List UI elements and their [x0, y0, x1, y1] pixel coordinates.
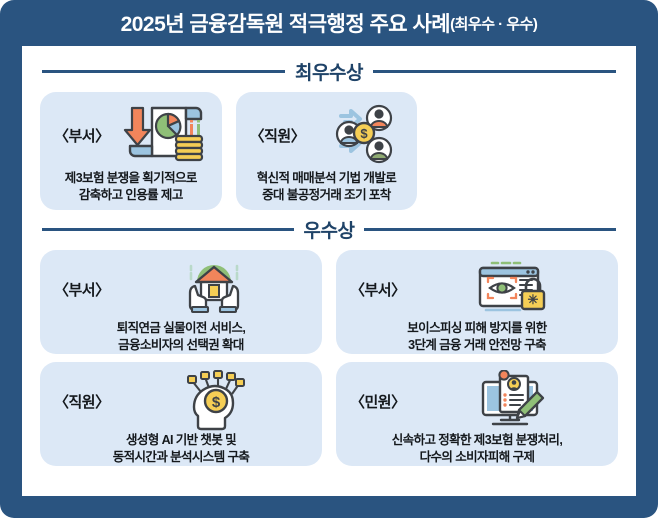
divider-line-right — [373, 70, 616, 73]
card-header: 〈부서〉 — [346, 258, 608, 320]
excellence-column-right: 〈부서〉 — [336, 250, 618, 466]
card-description: 생성형 AI 기반 챗봇 및 동적시간과 분석시스템 구축 — [50, 432, 312, 466]
excellence-card-grid: 〈부서〉 — [34, 250, 624, 466]
page-title-suffix: (최우수 · 우수) — [450, 13, 537, 34]
card-description-line1: 혁신적 매매분석 기법 개발로 — [257, 171, 396, 185]
hands-holding-house-icon — [116, 258, 312, 320]
card-description-line1: 보이스피싱 피해 방지를 위한 — [407, 321, 546, 335]
poster-frame: 2025년 금융감독원 적극행정 주요 사례(최우수 · 우수) 최우수상 〈부… — [0, 0, 658, 518]
card-header: 〈직원〉 — [246, 100, 408, 170]
award-card-grandprize-department[interactable]: 〈부서〉 — [40, 92, 222, 210]
card-description-line2: 감축하고 인용률 제고 — [50, 187, 212, 204]
card-description-line2: 다수의 소비자피해 구제 — [346, 449, 608, 466]
divider-line-right — [364, 228, 616, 231]
divider-line-left — [42, 228, 294, 231]
card-header: 〈직원〉 — [50, 370, 312, 432]
poster-body: 최우수상 〈부서〉 — [22, 46, 636, 496]
award-card-excellence-pension[interactable]: 〈부서〉 — [40, 250, 322, 354]
page-title: 2025년 금융감독원 적극행정 주요 사례 — [121, 8, 451, 38]
people-money-transfer-icon: $ — [311, 100, 407, 170]
award-card-excellence-voice-phishing[interactable]: 〈부서〉 — [336, 250, 618, 354]
poster-title-bar: 2025년 금융감독원 적극행정 주요 사례(최우수 · 우수) — [0, 0, 658, 46]
card-description-line2: 금융소비자의 선택권 확대 — [50, 337, 312, 354]
grand-prize-card-grid: 〈부서〉 — [34, 92, 624, 210]
award-card-grandprize-employee[interactable]: 〈직원〉 — [236, 92, 418, 210]
svg-text:$: $ — [361, 126, 369, 141]
section-header-grand-prize: 최우수상 — [34, 58, 624, 85]
card-description: 신속하고 정확한 제3보험 분쟁처리, 다수의 소비자피해 구제 — [346, 432, 608, 466]
card-category-label: 〈부서〉 — [50, 125, 110, 146]
card-description: 퇴직연금 실물이전 서비스, 금융소비자의 선택권 확대 — [50, 320, 312, 354]
card-category-label: 〈부서〉 — [346, 279, 406, 300]
card-description-line1: 신속하고 정확한 제3보험 분쟁처리, — [392, 433, 562, 447]
card-description: 혁신적 매매분석 기법 개발로 중대 불공정거래 조기 포착 — [246, 170, 408, 204]
card-description: 제3보험 분쟁을 획기적으로 감축하고 인용률 제고 — [50, 170, 212, 204]
excellence-column-left: 〈부서〉 — [40, 250, 322, 466]
card-description: 보이스피싱 피해 방지를 위한 3단계 금융 거래 안전망 구축 — [346, 320, 608, 354]
svg-text:$: $ — [212, 394, 221, 411]
card-header: 〈부서〉 — [50, 258, 312, 320]
award-card-excellence-ai-chatbot[interactable]: 〈직원〉 — [40, 362, 322, 466]
document-piechart-coins-icon — [116, 100, 212, 170]
card-description-line1: 퇴직연금 실물이전 서비스, — [117, 321, 246, 335]
monitor-form-pen-icon — [412, 370, 608, 432]
card-description-line2: 동적시간과 분석시스템 구축 — [50, 449, 312, 466]
browser-eye-lock-icon: ✳ — [412, 258, 608, 320]
card-description-line2: 3단계 금융 거래 안전망 구축 — [346, 337, 608, 354]
card-category-label: 〈직원〉 — [50, 391, 110, 412]
section-title-grand-prize: 최우수상 — [293, 58, 365, 85]
card-description-line2: 중대 불공정거래 조기 포착 — [246, 187, 408, 204]
card-header: 〈부서〉 — [50, 100, 212, 170]
ai-brain-money-icon: $ — [116, 370, 312, 432]
card-description-line1: 제3보험 분쟁을 획기적으로 — [65, 171, 197, 185]
card-category-label: 〈민원〉 — [346, 391, 406, 412]
card-category-label: 〈부서〉 — [50, 279, 110, 300]
section-header-excellence: 우수상 — [34, 216, 624, 243]
divider-line-left — [42, 70, 285, 73]
award-card-excellence-complaint-handling[interactable]: 〈민원〉 — [336, 362, 618, 466]
section-title-excellence: 우수상 — [302, 216, 357, 243]
card-category-label: 〈직원〉 — [246, 125, 306, 146]
card-description-line1: 생성형 AI 기반 챗봇 및 — [126, 433, 236, 447]
svg-text:✳: ✳ — [527, 292, 538, 307]
card-header: 〈민원〉 — [346, 370, 608, 432]
